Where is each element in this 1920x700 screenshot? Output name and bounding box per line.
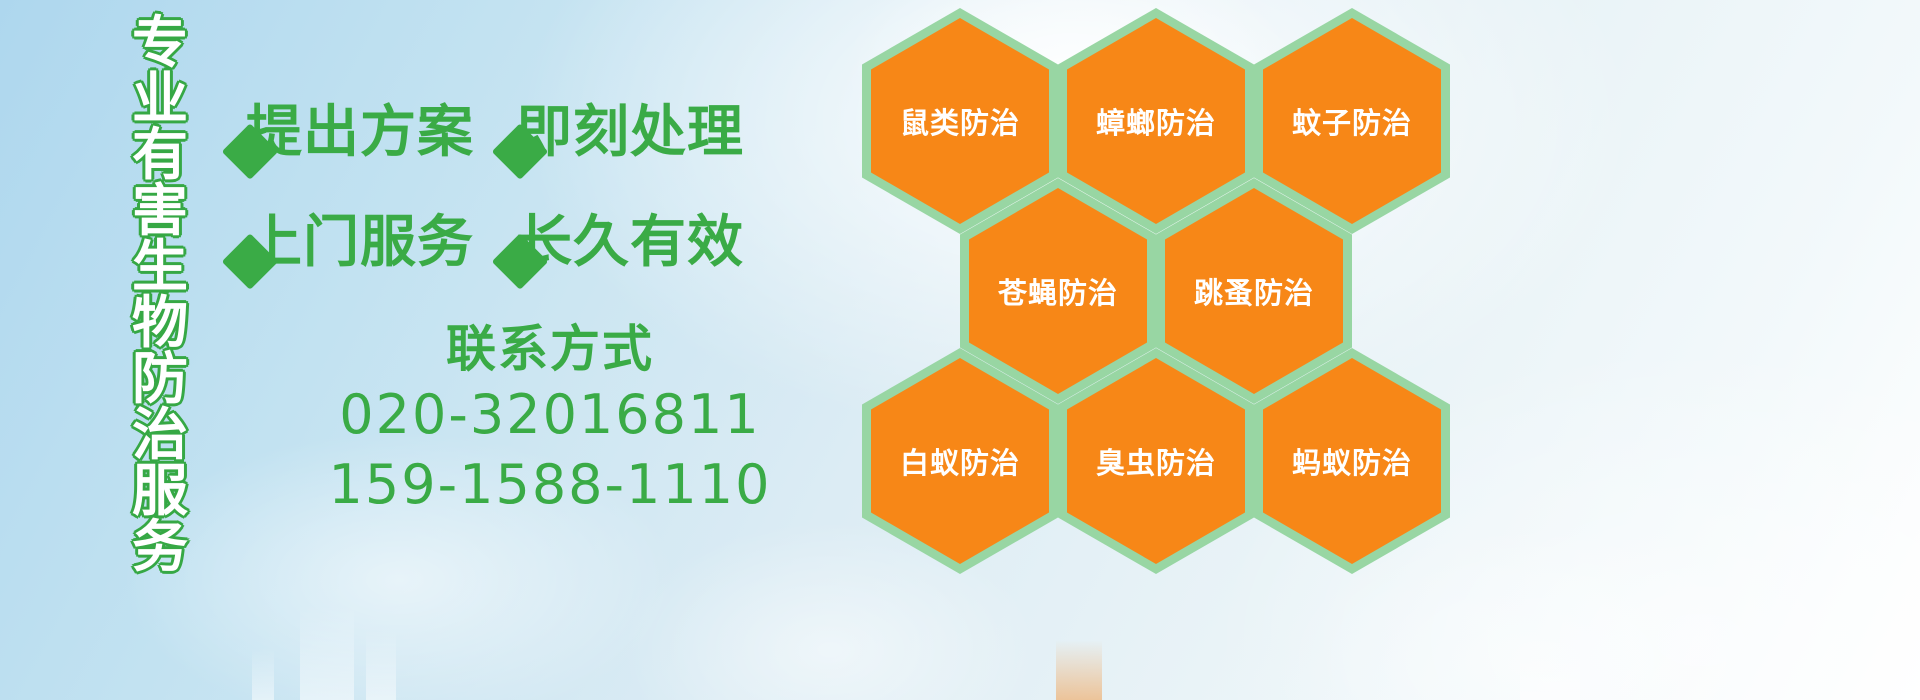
vertical-title-char: 治 (132, 408, 188, 464)
service-hex-grid: 鼠类防治 蟑螂防治 蚊子防治 苍蝇防治 跳蚤防治 白蚁防治 臭虫防治 蚂蚁防治 (862, 0, 1482, 560)
service-label: 蟑螂防治 (1096, 100, 1216, 142)
vertical-title-char: 专 (132, 16, 188, 72)
service-label: 臭虫防治 (1096, 440, 1216, 482)
vertical-title-char: 防 (132, 352, 188, 408)
service-label: 苍蝇防治 (998, 270, 1118, 312)
feature-label: 提出方案 (246, 104, 474, 162)
phone-number-landline[interactable]: 020-32016811 (230, 380, 870, 450)
vertical-title-char: 物 (132, 296, 188, 352)
feature-label: 上门服务 (246, 214, 474, 272)
background-streak (1056, 640, 1102, 700)
feature-label: 即刻处理 (516, 104, 744, 162)
background-streak (366, 630, 396, 700)
service-label: 蚊子防治 (1292, 100, 1412, 142)
feature-list: 提出方案 即刻处理 上门服务 长久有效 (230, 78, 870, 298)
service-label: 鼠类防治 (900, 100, 1020, 142)
vertical-title-char: 生 (132, 240, 188, 296)
feature-item: 上门服务 (230, 214, 500, 272)
feature-item: 即刻处理 (500, 104, 744, 162)
service-label: 白蚁防治 (900, 440, 1020, 482)
background-streak (300, 605, 354, 700)
vertical-title-char: 有 (132, 128, 188, 184)
feature-row: 提出方案 即刻处理 (230, 78, 870, 188)
phone-number-mobile[interactable]: 159-1588-1110 (230, 450, 870, 520)
feature-row: 上门服务 长久有效 (230, 188, 870, 298)
contact-title: 联系方式 (230, 318, 870, 380)
vertical-title-char: 服 (132, 464, 188, 520)
feature-item: 提出方案 (230, 104, 500, 162)
feature-item: 长久有效 (500, 214, 744, 272)
service-label: 跳蚤防治 (1194, 270, 1314, 312)
service-label: 蚂蚁防治 (1292, 440, 1412, 482)
promo-banner: 专业有害生物防治服务 提出方案 即刻处理 上门服务 长久有效 联系方式 (0, 0, 1920, 700)
contact-block: 联系方式 020-32016811 159-1588-1110 (230, 318, 870, 520)
background-streak (252, 648, 274, 700)
vertical-title-char: 务 (132, 520, 188, 576)
vertical-title: 专业有害生物防治服务 (108, 16, 212, 576)
vertical-title-char: 害 (132, 184, 188, 240)
background-streak (1520, 648, 1580, 700)
vertical-title-char: 业 (132, 72, 188, 128)
feature-label: 长久有效 (516, 214, 744, 272)
